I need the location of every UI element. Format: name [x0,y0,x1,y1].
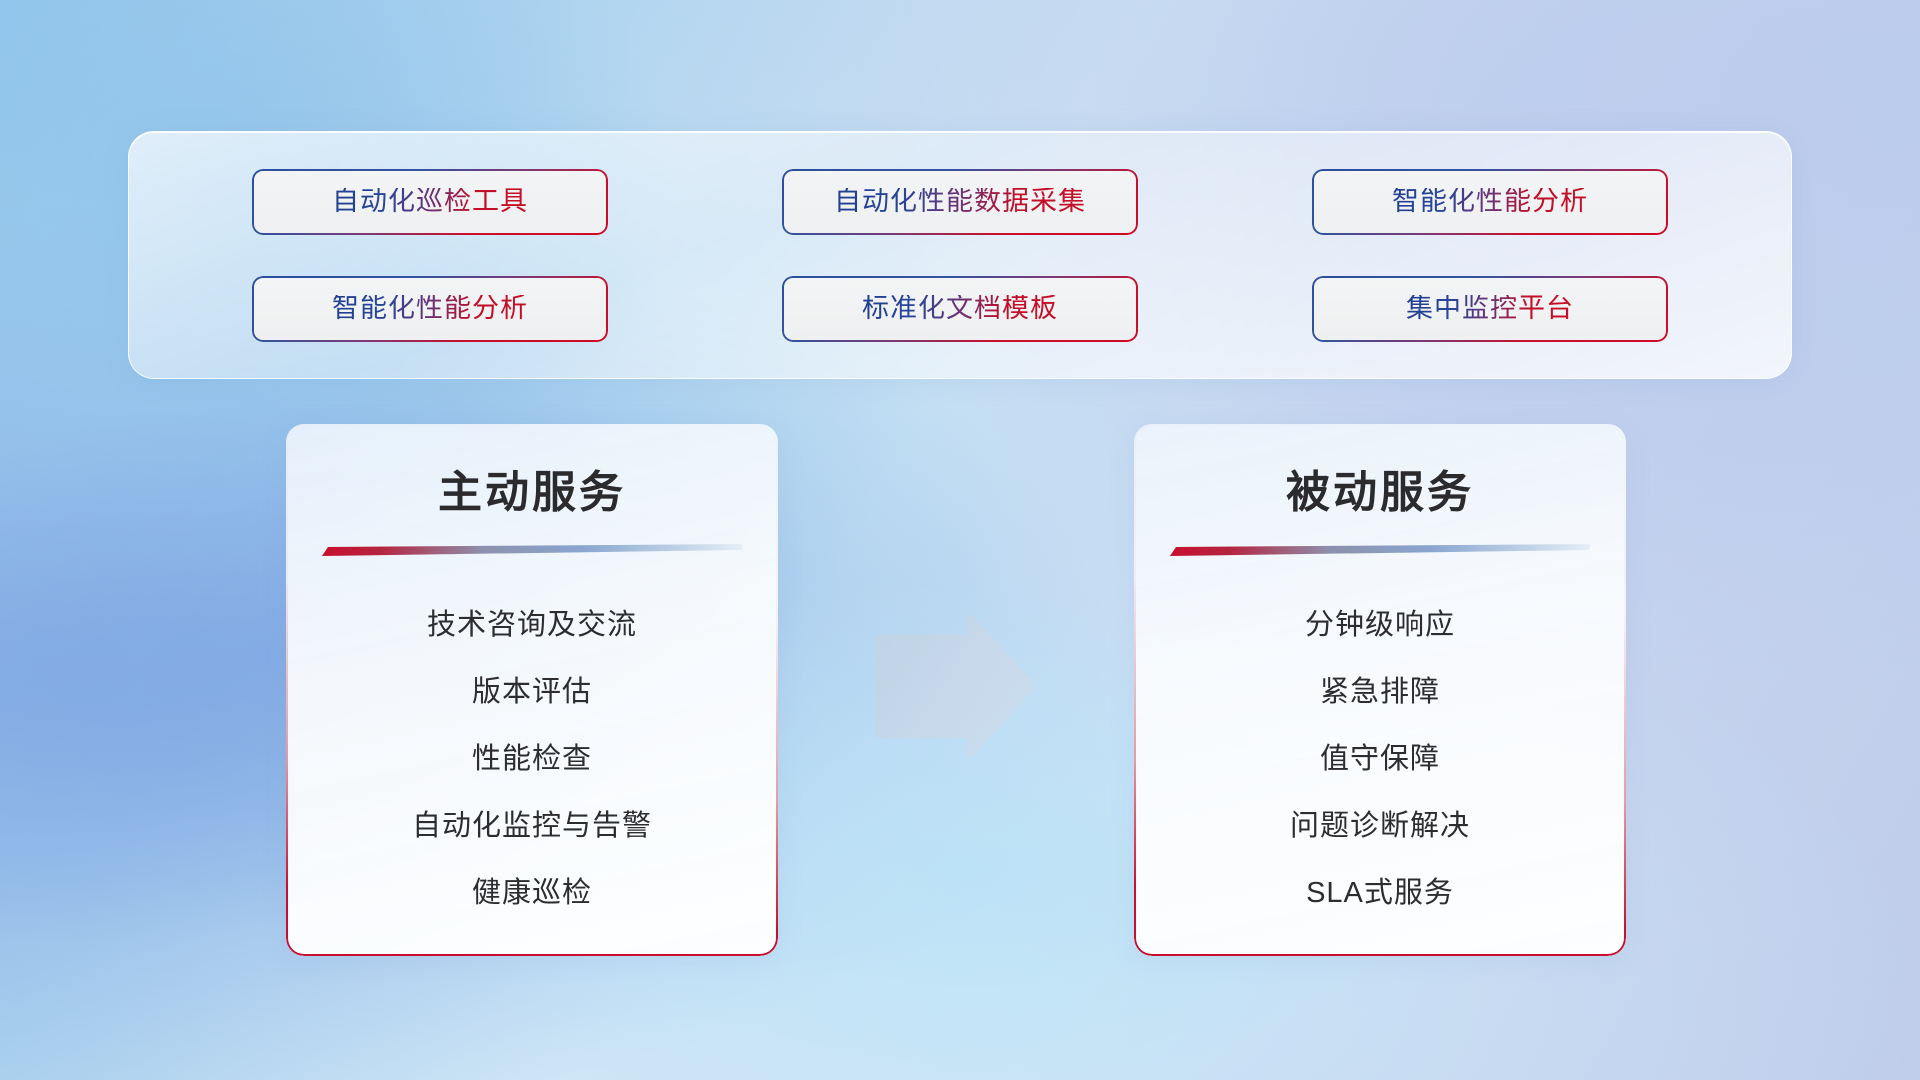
capability-chip-label: 智能化性能分析 [1392,188,1588,215]
service-list-item: 技术咨询及交流 [286,592,778,659]
service-list-item: 性能检查 [286,726,778,793]
service-list-item: 版本评估 [286,659,778,726]
service-card-title: 主动服务 [286,424,778,520]
capability-chip-label: 自动化性能数据采集 [834,188,1086,215]
service-list-item: 健康巡检 [286,860,778,927]
slide-canvas: 自动化巡检工具 自动化性能数据采集 智能化性能分析 智能化性能分析 标准化文档模… [0,0,1920,1080]
service-list-item: 自动化监控与告警 [286,793,778,860]
capability-chip-label: 自动化巡检工具 [332,188,528,215]
service-list-item: 值守保障 [1134,726,1626,793]
service-list-item: 紧急排障 [1134,659,1626,726]
capability-chip-6[interactable]: 集中监控平台 [1312,276,1668,342]
capability-panel: 自动化巡检工具 自动化性能数据采集 智能化性能分析 智能化性能分析 标准化文档模… [128,131,1792,379]
service-list-item: SLA式服务 [1134,860,1626,927]
right-arrow-icon [869,612,1035,760]
service-item-list: 技术咨询及交流 版本评估 性能检查 自动化监控与告警 健康巡检 [286,558,778,927]
service-list-item: 分钟级响应 [1134,592,1626,659]
capability-chip-label: 标准化文档模板 [862,295,1058,322]
service-item-list: 分钟级响应 紧急排障 值守保障 问题诊断解决 SLA式服务 [1134,558,1626,927]
capability-chip-5[interactable]: 标准化文档模板 [782,276,1138,342]
capability-chip-label: 集中监控平台 [1406,295,1574,322]
capability-chip-2[interactable]: 自动化性能数据采集 [782,169,1138,235]
service-card-title: 被动服务 [1134,424,1626,520]
title-divider [1170,544,1590,558]
service-card-reactive: 被动服务 分钟级响应 紧急排障 值守保障 [1134,424,1626,956]
service-list-item: 问题诊断解决 [1134,793,1626,860]
capability-chip-4[interactable]: 智能化性能分析 [252,276,608,342]
service-card-proactive: 主动服务 技术咨询及交流 版本评估 性能检查 [286,424,778,956]
capability-chip-1[interactable]: 自动化巡检工具 [252,169,608,235]
capability-chip-3[interactable]: 智能化性能分析 [1312,169,1668,235]
capability-chip-label: 智能化性能分析 [332,295,528,322]
title-divider [322,544,742,558]
